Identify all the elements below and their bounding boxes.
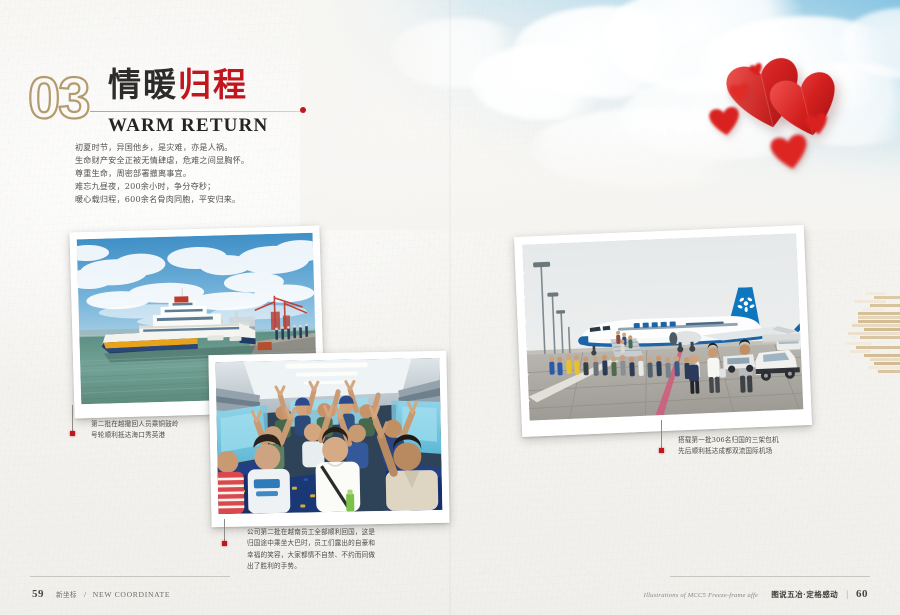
caption-line: 第二批在越撤回人员乘铜鼓岭: [91, 419, 179, 430]
lede-line: 尊重生命，周密部署撤离事宜。: [75, 167, 249, 180]
airplane-caption-leader: [661, 420, 662, 450]
bus-photo[interactable]: [208, 351, 449, 528]
footer-slash: /: [84, 590, 87, 599]
footer-rule-left: [30, 576, 230, 577]
caption-line: 公司第二批在越南员工全部顺利回国，这是: [247, 527, 375, 538]
paper-heart-icon: [708, 106, 742, 138]
paper-heart-icon: [769, 133, 810, 173]
lede-line: 暖心载归程，600余名骨肉同胞，平安归来。: [75, 193, 249, 206]
bus-photo-caption: 公司第二批在越南员工全部顺利回国，这是 归国途中乘坐大巴时，员工们露出的自豪和 …: [247, 527, 375, 572]
footer-left: 59 新坐标 / NEW COORDINATE: [32, 584, 170, 602]
magazine-spread: 03 情暖归程 WARM RETURN 初夏时节，异国他乡，是灾难，亦是人祸。 …: [0, 0, 900, 615]
title-cn-red: 归程: [178, 65, 248, 104]
footer-tagline-en: Illustrations of MCC5 Freeze-frame affe: [644, 592, 759, 599]
caption-line: 出了胜利的手势。: [247, 561, 375, 572]
airplane-photo-caption: 搭载第一批306名归国的三架包机 先后顺利抵达成都双流国际机场: [678, 435, 779, 458]
footer-section-en: NEW COORDINATE: [93, 590, 170, 599]
paper-heart-icon: [804, 112, 830, 137]
footer-tagline-cn: 图说五冶·定格感动: [771, 590, 838, 599]
paper-hearts-decoration: [700, 48, 900, 188]
page-number-left: 59: [32, 588, 44, 600]
airplane-photo-image: [522, 233, 803, 420]
page-number-right: 60: [856, 588, 868, 600]
footer-separator: |: [842, 589, 852, 599]
footer-section-cn: 新坐标: [56, 591, 77, 599]
ship-caption-leader: [72, 405, 73, 433]
title-cn-dark: 情暖: [108, 65, 178, 104]
page-title: 情暖归程: [108, 68, 248, 101]
edge-bar-decoration: [844, 292, 900, 374]
caption-line: 号轮顺利抵达海口秀英港: [91, 430, 179, 441]
ship-photo-caption: 第二批在越撤回人员乘铜鼓岭 号轮顺利抵达海口秀英港: [91, 419, 179, 442]
caption-line: 先后顺利抵达成都双流国际机场: [678, 446, 779, 457]
caption-line: 幸福的笑容，大家都情不自禁、不约而同做: [247, 550, 375, 561]
bus-caption-leader: [224, 519, 225, 543]
footer-rule-right: [670, 576, 870, 577]
title-accent-dot: [300, 107, 306, 113]
gutter-fold: [449, 0, 451, 615]
chapter-number: 03: [28, 70, 89, 128]
lede-line: 难忘九昼夜，200余小时，争分夺秒；: [75, 180, 249, 193]
lede-paragraph: 初夏时节，异国他乡，是灾难，亦是人祸。 生命财产安全正被无情肆虐，危难之间显胸怀…: [75, 141, 249, 207]
airplane-caption-dot: [659, 448, 664, 453]
ship-caption-dot: [70, 431, 75, 436]
caption-line: 搭载第一批306名归国的三架包机: [678, 435, 779, 446]
bus-photo-image: [216, 358, 443, 514]
caption-line: 归国途中乘坐大巴时，员工们露出的自豪和: [247, 538, 375, 549]
footer-right: Illustrations of MCC5 Freeze-frame affe …: [644, 584, 868, 602]
title-divider: [90, 111, 303, 112]
lede-line: 生命财产安全正被无情肆虐，危难之间显胸怀。: [75, 154, 249, 167]
bus-caption-dot: [222, 541, 227, 546]
lede-line: 初夏时节，异国他乡，是灾难，亦是人祸。: [75, 141, 249, 154]
airplane-photo[interactable]: [514, 225, 812, 437]
page-title-en: WARM RETURN: [108, 115, 268, 137]
paper-heart-icon: [729, 82, 752, 104]
